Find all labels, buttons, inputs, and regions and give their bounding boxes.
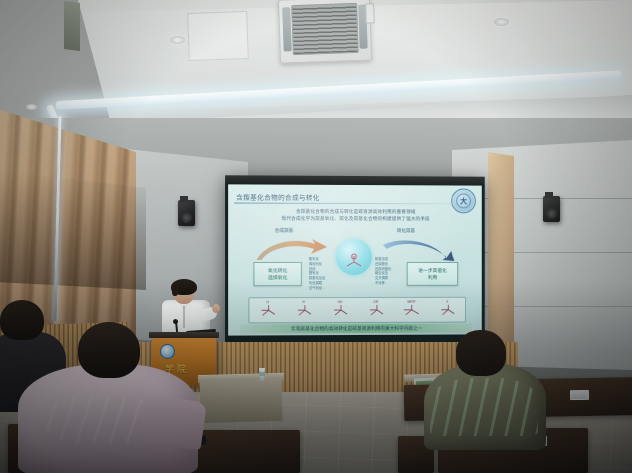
audience-front-pink-shirt	[18, 324, 198, 473]
speaker-cone	[546, 208, 557, 219]
molecule-structure: OH	[326, 301, 354, 319]
seat-number-tag	[570, 390, 589, 400]
ac-grille	[291, 3, 359, 55]
lecture-hall-scene: 含羰基化合物的合成与转化 大 含羰基化合物的合成与转化是碳资源高效利用的重要领域…	[0, 0, 632, 473]
carbonyl-molecule-bubble: O	[336, 239, 372, 275]
curtain-shadow	[0, 170, 146, 290]
keyword-column-right: 羰基加成 还原胺化 还原烷基化 缩合反应 交叉偶联 不对称…	[375, 257, 391, 286]
molecule-label: R'	[302, 300, 305, 304]
ceiling-access-panel	[187, 11, 249, 61]
slide-box-right-line2: 利用	[408, 275, 457, 282]
synthesis-arrow-left-icon	[254, 237, 329, 259]
transformation-arrow-right-icon	[381, 237, 456, 259]
molecule-label: OH	[338, 300, 343, 304]
air-conditioner-cassette-icon	[278, 0, 372, 64]
slide-box-left-line2: 选择氧化	[254, 275, 300, 283]
audience-right-striped	[424, 330, 544, 473]
slide-box-right-line1: 进一步高值化	[408, 268, 457, 275]
speaker-bracket	[545, 192, 553, 198]
ac-vent-left	[282, 7, 292, 51]
speaker-bracket	[180, 196, 188, 202]
window-curtains-right	[488, 152, 514, 352]
seal-mark: 大	[460, 196, 467, 206]
arrow-label-left: 合成羰基	[275, 228, 294, 234]
wall-speaker-left-icon	[178, 200, 195, 226]
slide-surface: 含羰基化合物的合成与转化 大 含羰基化合物的合成与转化是碳资源高效利用的重要领域…	[228, 184, 482, 335]
molecule-structure: R'	[290, 301, 318, 319]
molecule-structure: NR'R''	[398, 301, 426, 319]
slide-box-left-line1: 氧化转化	[254, 268, 300, 275]
keyword-item: 不对称…	[375, 281, 391, 286]
keyword-item: 空气氧化…	[309, 286, 326, 291]
slide-title-rule	[234, 203, 452, 205]
presenter-hand	[212, 304, 220, 313]
molecule-structures-strip: H R' OH OR' NR'R''	[248, 297, 466, 324]
presenter-hair	[171, 279, 197, 295]
molecule-label: X	[446, 300, 448, 304]
slide-box-right: 进一步高值化 利用	[407, 262, 458, 286]
audience-head	[78, 322, 140, 378]
ac-control-panel	[365, 3, 375, 23]
speaker-cone	[181, 212, 192, 223]
projection-screen: 含羰基化合物的合成与转化 大 含羰基化合物的合成与转化是碳资源高效利用的重要领域…	[225, 175, 485, 346]
audience-shirt-stripes	[430, 378, 538, 436]
molecule-label: H	[266, 300, 268, 304]
keyword-column-left: 醇氧化 烯烃氧化 烷烃 醛氧化 羰基化反应 氧化偶联 空气氧化…	[309, 257, 326, 290]
slide-box-left: 氧化转化 选择氧化	[253, 262, 301, 286]
molecule-label: NR'R''	[407, 300, 416, 304]
molecule-structure: OR'	[362, 301, 390, 319]
slide-title: 含羰基化合物的合成与转化	[236, 191, 320, 201]
wall-speaker-right-icon	[543, 196, 560, 222]
arrow-label-right: 转化羰基	[397, 228, 415, 234]
molecule-label: OR'	[373, 300, 378, 304]
podium-side-panel	[64, 1, 80, 51]
molecule-structure: X	[433, 301, 461, 319]
downlight-icon	[494, 18, 509, 26]
desk-body	[199, 379, 282, 423]
slide-subtitle-line-2: 现代合成化学为羰基氧化、羰化及羰基化合物的构建提供了强大的手段	[228, 216, 482, 224]
downlight-icon	[26, 104, 37, 110]
molecule-structure: H	[253, 301, 281, 319]
audience-head	[456, 330, 506, 376]
downlight-icon	[170, 36, 185, 44]
